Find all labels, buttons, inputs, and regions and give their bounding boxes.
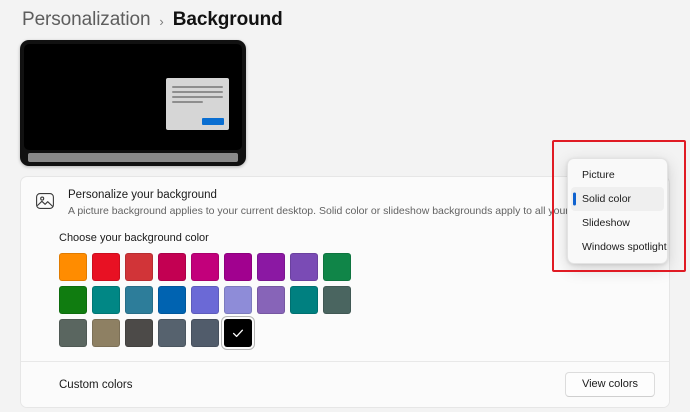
preview-taskbar [28,153,238,162]
background-type-option-label: Windows spotlight [582,241,667,253]
color-swatch-green[interactable] [323,253,351,281]
color-swatch-teal[interactable] [92,286,120,314]
background-type-option-solid-color[interactable]: Solid color [571,187,664,211]
personalize-background-subtitle: A picture background applies to your cur… [68,204,617,219]
preview-dialog-text-line [172,91,223,93]
color-swatch-indigo[interactable] [191,286,219,314]
color-swatch-light-violet[interactable] [224,286,252,314]
color-swatch-steel-blue[interactable] [125,286,153,314]
color-swatch-dark-gray[interactable] [125,319,153,347]
personalize-background-text: Personalize your background A picture ba… [68,188,617,219]
picture-icon [35,191,55,211]
color-swatch-cool-gray[interactable] [191,319,219,347]
color-swatch-soft-red[interactable] [125,253,153,281]
preview-dialog-text-line [172,86,223,88]
color-swatch-crimson[interactable] [158,253,186,281]
color-swatch-blue[interactable] [158,286,186,314]
preview-monitor-frame [20,40,246,166]
breadcrumb-link-personalization[interactable]: Personalization [22,9,150,31]
breadcrumb-separator-icon: › [159,12,163,29]
background-type-option-label: Slideshow [582,217,630,229]
view-colors-button[interactable]: View colors [565,372,655,397]
preview-dialog-window [166,78,229,130]
background-type-dropdown-flyout[interactable]: PictureSolid colorSlideshowWindows spotl… [567,158,668,264]
background-type-option-windows-spotlight[interactable]: Windows spotlight [571,235,664,259]
preview-desktop-screen [24,44,242,150]
preview-dialog-text-line [172,101,203,103]
color-swatch-purple[interactable] [257,253,285,281]
custom-colors-row: Custom colors View colors [21,362,669,407]
color-swatch-purple-dark[interactable] [224,253,252,281]
background-type-option-label: Picture [582,169,615,181]
background-color-swatch-grid [59,253,655,347]
selection-indicator-bar [573,193,576,206]
breadcrumb: Personalization › Background [22,6,283,34]
preview-dialog-text-line [172,96,223,98]
color-swatch-orchid[interactable] [257,286,285,314]
personalize-background-title: Personalize your background [68,188,617,203]
choose-background-color-label: Choose your background color [59,231,655,245]
color-swatch-dark-teal[interactable] [290,286,318,314]
color-swatch-blue-gray[interactable] [158,319,186,347]
background-type-option-label: Solid color [582,193,631,205]
desktop-preview [20,40,246,166]
color-swatch-black[interactable] [224,319,252,347]
page-title: Background [173,9,283,31]
background-type-option-slideshow[interactable]: Slideshow [571,211,664,235]
preview-dialog-button [202,118,224,125]
color-swatch-violet[interactable] [290,253,318,281]
color-swatch-magenta[interactable] [191,253,219,281]
color-swatch-orange[interactable] [59,253,87,281]
custom-colors-label: Custom colors [59,379,133,391]
color-swatch-tan[interactable] [92,319,120,347]
background-type-option-picture[interactable]: Picture [571,163,664,187]
color-swatch-slate-green[interactable] [323,286,351,314]
color-swatch-red[interactable] [92,253,120,281]
check-icon [231,326,245,340]
color-swatch-gray-green[interactable] [59,319,87,347]
color-swatch-dark-green[interactable] [59,286,87,314]
